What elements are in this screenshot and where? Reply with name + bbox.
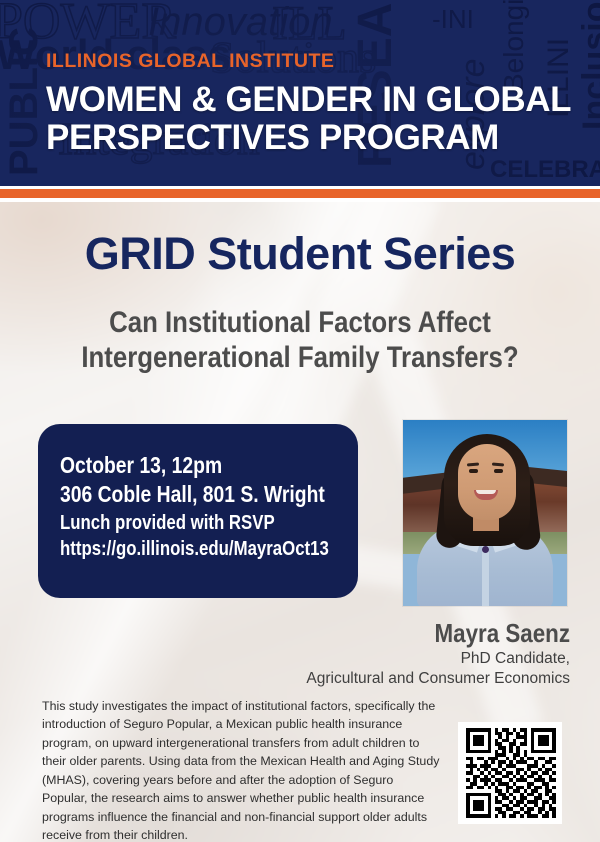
speaker-department: Agricultural and Consumer Economics [50,670,570,688]
photo-eye-right [494,469,503,473]
event-note: Lunch provided with RSVP [60,510,302,536]
photo-face [458,444,516,520]
event-details-content: October 13, 12pm 306 Coble Hall, 801 S. … [60,451,348,562]
speaker-role: PhD Candidate, [50,650,570,668]
abstract-text: This study investigates the impact of in… [42,697,442,842]
program-title-line1: WOMEN & GENDER IN GLOBAL [46,80,571,120]
event-details-box: October 13, 12pm 306 Coble Hall, 801 S. … [38,424,358,598]
photo-eye-left [469,469,478,473]
photo-pendant [482,546,489,553]
speaker-photo [403,420,567,606]
rsvp-link[interactable]: https://go.illinois.edu/MayraOct13 [60,536,302,562]
event-flyer: POWER Innovation ILL -INI Belonging Incl… [0,0,600,842]
divider-orange [0,189,600,198]
photo-teeth [476,490,496,494]
header-banner: POWER Innovation ILL -INI Belonging Incl… [0,0,600,188]
institute-eyebrow: ILLINOIS GLOBAL INSTITUTE [46,50,334,73]
qr-code[interactable] [458,722,562,824]
program-title-line2: PERSPECTIVES PROGRAM [46,118,499,158]
talk-title-line1: Can Institutional Factors Affect [68,305,532,340]
qr-code-matrix [466,728,556,818]
event-datetime: October 13, 12pm [60,451,302,480]
event-location: 306 Coble Hall, 801 S. Wright [60,480,302,509]
talk-title-line2: Intergenerational Family Transfers? [68,340,532,375]
series-title: GRID Student Series [0,228,600,280]
speaker-name: Mayra Saenz [312,618,570,649]
header-text-group: ILLINOIS GLOBAL INSTITUTE WOMEN & GENDER… [0,0,600,188]
talk-title: Can Institutional Factors Affect Interge… [68,305,532,376]
